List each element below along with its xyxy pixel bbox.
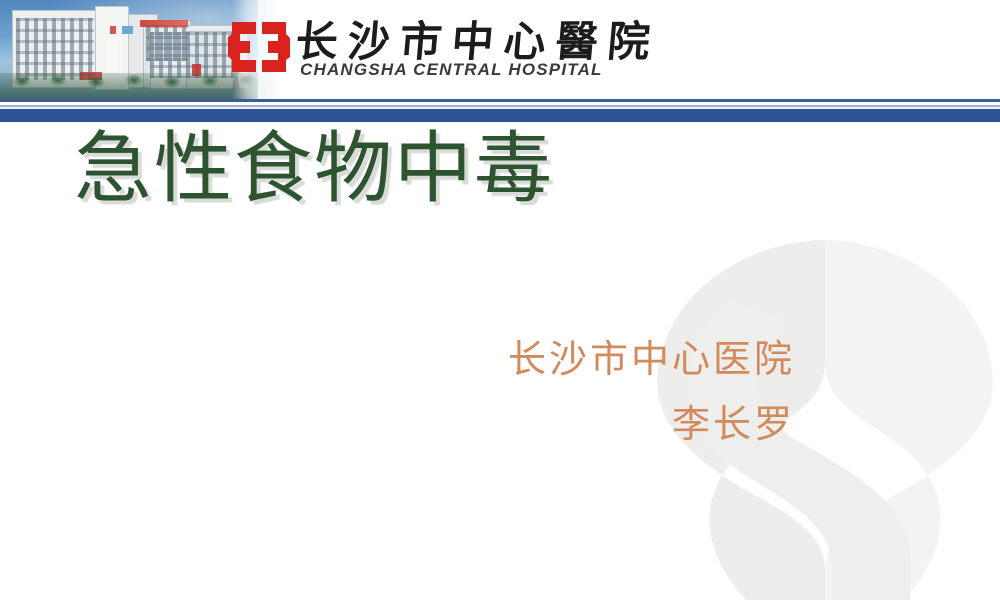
slide-header-banner: 长沙市中心醫院 CHANGSHA CENTRAL HOSPITAL	[0, 0, 1000, 99]
building-red-signboard	[140, 20, 188, 27]
presentation-slide: 长沙市中心醫院 CHANGSHA CENTRAL HOSPITAL 急性食物中毒…	[0, 0, 1000, 600]
flag-blue	[122, 26, 133, 34]
hospital-name-english: CHANGSHA CENTRAL HOSPITAL	[300, 60, 603, 80]
page-title: 急性食物中毒	[74, 128, 554, 210]
subtitle-block: 长沙市中心医院 李长罗	[330, 328, 795, 459]
subtitle-organization: 长沙市中心医院	[330, 328, 795, 393]
divider-bar-main	[0, 109, 1000, 122]
subtitle-author: 李长罗	[330, 393, 795, 458]
hospital-red-emblem	[228, 22, 290, 72]
building-windows-left	[16, 18, 94, 80]
